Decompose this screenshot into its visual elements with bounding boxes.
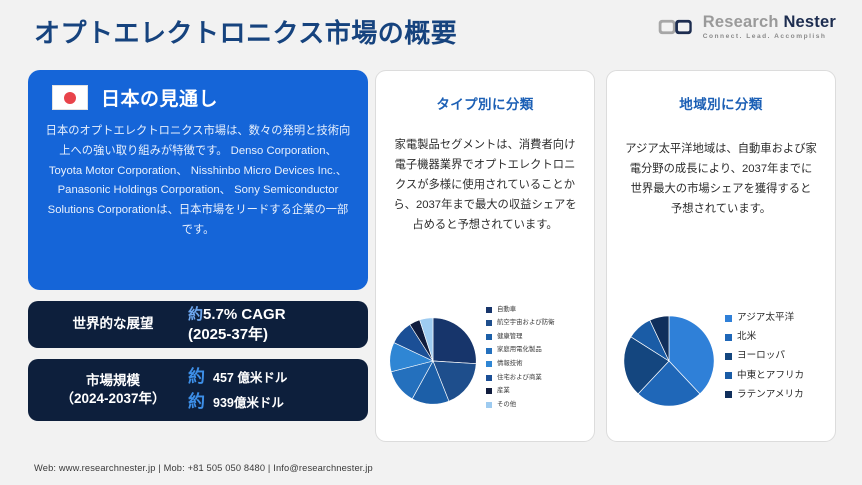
legend-swatch-icon	[725, 315, 732, 322]
region-chart-area: アジア太平洋北米ヨーロッパ中東とアフリカラテンアメリカ	[607, 291, 835, 431]
region-pie-chart	[613, 313, 725, 409]
global-outlook-value: 約5.7% CAGR (2025-37年)	[188, 305, 358, 344]
legend-swatch-icon	[486, 375, 492, 381]
type-pie-chart	[380, 315, 486, 407]
legend-swatch-icon	[486, 388, 492, 394]
legend-item: 住宅および商業	[486, 375, 594, 381]
legend-label: 北米	[737, 332, 756, 342]
legend-label: 航空宇宙および防衛	[497, 320, 555, 326]
global-outlook-label: 世界的な展望	[38, 315, 188, 333]
legend-label: 家庭用電化製品	[497, 347, 542, 353]
legend-item: 北米	[725, 332, 835, 342]
region-pie-svg	[621, 313, 717, 409]
cagr-period: (2025-37年)	[188, 325, 358, 345]
market-size-stat-card: 市場規模 （2024-2037年） 約 457 億米ドル 約 939億米ドル	[28, 359, 368, 421]
legend-item: 情報技術	[486, 361, 594, 367]
legend-label: 住宅および商業	[497, 375, 542, 381]
market-size-row-2037: 約 939億米ドル	[188, 390, 358, 415]
cagr-approx-symbol: 約	[188, 306, 203, 323]
legend-item: 航空宇宙および防衛	[486, 320, 594, 326]
page-title: オプトエレクトロニクス市場の概要	[34, 13, 457, 50]
logo-title: Research Nester	[703, 14, 836, 31]
header: オプトエレクトロニクス市場の概要 Research Nester Connect…	[0, 0, 862, 58]
cagr-value: 5.7% CAGR	[203, 306, 286, 323]
legend-item: 健康管理	[486, 334, 594, 340]
legend-swatch-icon	[486, 307, 492, 313]
legend-swatch-icon	[486, 402, 492, 408]
legend-item: ヨーロッパ	[725, 351, 835, 361]
legend-swatch-icon	[486, 361, 492, 367]
legend-item: 産業	[486, 388, 594, 394]
region-chart-legend: アジア太平洋北米ヨーロッパ中東とアフリカラテンアメリカ	[725, 313, 835, 408]
legend-item: アジア太平洋	[725, 313, 835, 323]
logo-text-block: Research Nester Connect. Lead. Accomplis…	[703, 14, 836, 40]
legend-item: 中東とアフリカ	[725, 371, 835, 381]
legend-swatch-icon	[486, 334, 492, 340]
legend-swatch-icon	[725, 334, 732, 341]
legend-label: アジア太平洋	[737, 313, 794, 323]
legend-swatch-icon	[725, 372, 732, 379]
legend-label: 自動車	[497, 307, 516, 313]
brand-logo: Research Nester Connect. Lead. Accomplis…	[657, 14, 836, 40]
market-size-approx-2024: 約	[188, 365, 205, 390]
japan-flag-sun	[64, 92, 76, 104]
legend-swatch-icon	[725, 391, 732, 398]
logo-word-research: Research	[703, 13, 779, 31]
cagr-line-1: 約5.7% CAGR	[188, 305, 358, 325]
japan-card-header: 日本の見通し	[52, 84, 352, 111]
japan-outlook-card: 日本の見通し 日本のオプトエレクトロニクス市場は、数々の発明と技術向上への強い取…	[28, 70, 368, 290]
legend-swatch-icon	[725, 353, 732, 360]
market-size-label: 市場規模 （2024-2037年）	[38, 372, 188, 408]
type-segmentation-panel: タイプ別に分類 家電製品セグメントは、消費者向け電子機器業界でオプトエレクトロニ…	[375, 70, 595, 442]
left-column: 日本の見通し 日本のオプトエレクトロニクス市場は、数々の発明と技術向上への強い取…	[28, 70, 368, 421]
market-size-approx-2037: 約	[188, 390, 205, 415]
legend-swatch-icon	[486, 348, 492, 354]
legend-item: 自動車	[486, 307, 594, 313]
logo-word-nester: Nester	[783, 13, 836, 31]
market-size-label-line-1: 市場規模	[38, 372, 188, 390]
global-outlook-stat-card: 世界的な展望 約5.7% CAGR (2025-37年)	[28, 301, 368, 348]
legend-item: その他	[486, 402, 594, 408]
region-panel-body: アジア太平洋地域は、自動車および家電分野の成長により、2037年までに世界最大の…	[607, 139, 835, 219]
market-size-values: 約 457 億米ドル 約 939億米ドル	[188, 365, 358, 414]
legend-item: 家庭用電化製品	[486, 347, 594, 353]
legend-label: 中東とアフリカ	[737, 371, 804, 381]
legend-label: ヨーロッパ	[737, 351, 785, 361]
legend-label: 情報技術	[497, 361, 523, 367]
logo-tagline: Connect. Lead. Accomplish	[703, 34, 836, 41]
type-pie-svg	[387, 315, 479, 407]
legend-label: ラテンアメリカ	[737, 390, 804, 400]
legend-label: その他	[497, 402, 516, 408]
legend-swatch-icon	[486, 320, 492, 326]
type-chart-area: 自動車航空宇宙および防衛健康管理家庭用電化製品情報技術住宅および商業産業その他	[376, 291, 594, 431]
market-size-label-line-2: （2024-2037年）	[38, 390, 188, 408]
slide-root: オプトエレクトロニクス市場の概要 Research Nester Connect…	[0, 0, 862, 485]
legend-label: 健康管理	[497, 334, 523, 340]
japan-card-title: 日本の見通し	[101, 84, 218, 111]
footer-contact: Web: www.researchnester.jp | Mob: +81 50…	[34, 463, 373, 473]
type-chart-legend: 自動車航空宇宙および防衛健康管理家庭用電化製品情報技術住宅および商業産業その他	[486, 307, 594, 416]
market-size-row-2024: 約 457 億米ドル	[188, 365, 358, 390]
pie-slice	[433, 318, 476, 364]
chain-link-logo-icon	[657, 16, 695, 38]
legend-label: 産業	[497, 388, 510, 394]
japan-card-body: 日本のオプトエレクトロニクス市場は、数々の発明と技術向上への強い取り組みが特徴で…	[44, 122, 352, 241]
legend-item: ラテンアメリカ	[725, 390, 835, 400]
type-panel-body: 家電製品セグメントは、消費者向け電子機器業界でオプトエレクトロニクスが多様に使用…	[376, 135, 594, 235]
region-panel-title: 地域別に分類	[607, 93, 835, 113]
region-segmentation-panel: 地域別に分類 アジア太平洋地域は、自動車および家電分野の成長により、2037年ま…	[606, 70, 836, 442]
type-panel-title: タイプ別に分類	[376, 93, 594, 113]
japan-flag-icon	[52, 85, 88, 110]
market-size-value-2024: 457 億米ドル	[213, 369, 287, 387]
market-size-value-2037: 939億米ドル	[213, 394, 284, 412]
